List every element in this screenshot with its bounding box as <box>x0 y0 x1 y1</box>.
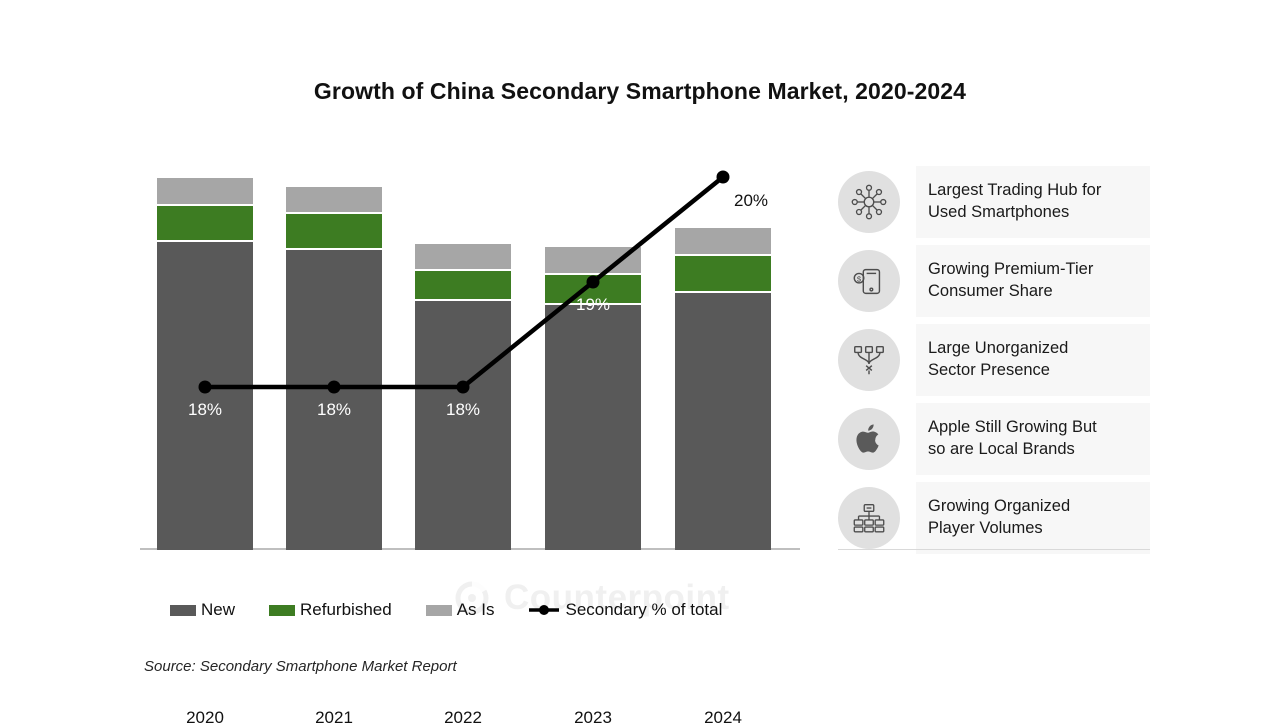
legend-label-new: New <box>201 600 235 620</box>
legend-swatch-as-is <box>426 605 452 616</box>
bar-segment-as-is[interactable] <box>157 178 253 204</box>
insight-line-1: Growing Premium-Tier <box>928 259 1093 281</box>
legend-item-refurbished[interactable]: Refurbished <box>269 600 392 620</box>
bar-segment-as-is[interactable] <box>545 247 641 272</box>
bar-segment-refurbished[interactable] <box>286 212 382 250</box>
bar-segment-refurbished[interactable] <box>157 204 253 242</box>
bar-segment-new[interactable] <box>157 242 253 550</box>
legend-label-secondary-percent: Secondary % of total <box>565 600 722 620</box>
bar-segment-new[interactable] <box>545 305 641 550</box>
line-label-2021: 18% <box>317 400 351 420</box>
bar-group-2024[interactable] <box>675 228 771 550</box>
bar-segment-new[interactable] <box>675 293 771 550</box>
legend-item-new[interactable]: New <box>170 600 235 620</box>
insight-text-wrap: Apple Still Growing But so are Local Bra… <box>916 403 1150 475</box>
insight-item-premium-tier[interactable]: $ Growing Premium-Tier Consumer Share <box>838 245 1150 317</box>
line-label-2020: 18% <box>188 400 222 420</box>
bar-group-2021[interactable] <box>286 187 382 550</box>
x-axis-label-2023: 2023 <box>528 708 658 728</box>
source-note: Source: Secondary Smartphone Market Repo… <box>144 658 457 675</box>
legend-swatch-new <box>170 605 196 616</box>
legend-item-as-is[interactable]: As Is <box>426 600 495 620</box>
legend-swatch-refurbished <box>269 605 295 616</box>
insight-item-unorganized-sector[interactable]: Large Unorganized Sector Presence <box>838 324 1150 396</box>
insight-item-apple[interactable]: Apple Still Growing But so are Local Bra… <box>838 403 1150 475</box>
bar-group-2020[interactable] <box>157 178 253 550</box>
org-chart-icon <box>838 487 900 549</box>
insight-line-1: Growing Organized <box>928 496 1070 518</box>
line-label-2022: 18% <box>446 400 480 420</box>
insight-text-wrap: Growing Premium-Tier Consumer Share <box>916 245 1150 317</box>
insight-line-1: Largest Trading Hub for <box>928 180 1101 202</box>
insight-line-2: Used Smartphones <box>928 202 1101 224</box>
line-marker-2024[interactable] <box>717 171 730 184</box>
unorganized-sector-icon <box>838 329 900 391</box>
legend-line-marker-icon <box>528 603 560 617</box>
plot-area: Counterpoint 18%18%18%19%20% 20202021202… <box>140 150 800 550</box>
page-title: Growth of China Secondary Smartphone Mar… <box>0 78 1280 105</box>
insights-panel: Largest Trading Hub for Used Smartphones… <box>838 166 1150 561</box>
legend-label-refurbished: Refurbished <box>300 600 392 620</box>
apple-logo-icon <box>838 408 900 470</box>
x-axis-label-2020: 2020 <box>140 708 270 728</box>
smartphone-dollar-icon: $ <box>838 250 900 312</box>
line-label-2024: 20% <box>734 191 768 211</box>
bar-segment-as-is[interactable] <box>286 187 382 211</box>
insight-line-2: so are Local Brands <box>928 439 1097 461</box>
legend-label-as-is: As Is <box>457 600 495 620</box>
insight-line-1: Large Unorganized <box>928 338 1068 360</box>
insight-line-2: Sector Presence <box>928 360 1068 382</box>
bar-group-2022[interactable] <box>415 244 511 550</box>
insight-item-trading-hub[interactable]: Largest Trading Hub for Used Smartphones <box>838 166 1150 238</box>
insight-line-2: Consumer Share <box>928 281 1093 303</box>
x-axis-label-2024: 2024 <box>658 708 788 728</box>
chart-canvas: Growth of China Secondary Smartphone Mar… <box>0 0 1280 720</box>
insight-text-wrap: Large Unorganized Sector Presence <box>916 324 1150 396</box>
panel-bottom-divider <box>838 549 1150 550</box>
bar-segment-new[interactable] <box>415 301 511 550</box>
bar-segment-as-is[interactable] <box>415 244 511 268</box>
x-axis-label-2022: 2022 <box>398 708 528 728</box>
chart-legend: New Refurbished As Is Secondary % of tot… <box>170 600 722 620</box>
bar-segment-refurbished[interactable] <box>415 269 511 301</box>
insight-text-wrap: Growing Organized Player Volumes <box>916 482 1150 554</box>
line-label-2023: 19% <box>576 295 610 315</box>
bar-segment-refurbished[interactable] <box>675 254 771 294</box>
bar-group-2023[interactable] <box>545 247 641 550</box>
insight-line-1: Apple Still Growing But <box>928 417 1097 439</box>
legend-item-secondary-percent[interactable]: Secondary % of total <box>528 600 722 620</box>
insight-text-wrap: Largest Trading Hub for Used Smartphones <box>916 166 1150 238</box>
insight-item-organized-players[interactable]: Growing Organized Player Volumes <box>838 482 1150 554</box>
network-hub-icon <box>838 171 900 233</box>
insight-line-2: Player Volumes <box>928 518 1070 540</box>
x-axis-label-2021: 2021 <box>269 708 399 728</box>
bar-segment-as-is[interactable] <box>675 228 771 254</box>
